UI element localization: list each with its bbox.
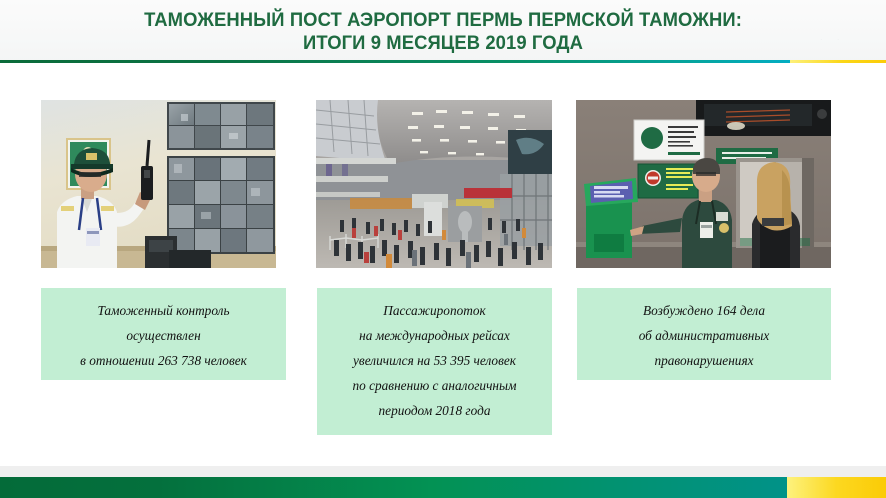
airport-terminal-illustration <box>316 100 552 268</box>
green-channel-kiosk-illustration <box>576 100 831 268</box>
passenger-flow-line-4: по сравнению с аналогичным <box>323 373 546 398</box>
footer-yellow-segment <box>787 477 886 498</box>
photo-row <box>0 100 886 268</box>
passenger-flow-line-2: на международных рейсах <box>323 323 546 348</box>
administrative-cases-line-2: об административных <box>583 323 825 348</box>
passenger-flow-line-1: Пассажиропоток <box>323 298 546 323</box>
customs-control-line-3: в отношении 263 738 человек <box>47 348 280 373</box>
photo-customs-officer-cctv <box>41 100 276 268</box>
presentation-slide: ТАМОЖЕННЫЙ ПОСТ АЭРОПОРТ ПЕРМЬ ПЕРМСКОЙ … <box>0 0 886 498</box>
photo-green-channel-kiosk <box>576 100 831 268</box>
header-divider <box>0 60 886 63</box>
footer-green-segment <box>0 477 787 498</box>
passenger-flow-line-5: периодом 2018 года <box>323 398 546 423</box>
title-line-2: ИТОГИ 9 МЕСЯЦЕВ 2019 ГОДА <box>27 33 860 54</box>
slide-header: ТАМОЖЕННЫЙ ПОСТ АЭРОПОРТ ПЕРМЬ ПЕРМСКОЙ … <box>0 0 886 62</box>
photo-airport-terminal-hall <box>316 100 552 268</box>
header-divider-yellow-segment <box>790 60 886 63</box>
administrative-cases-box: Возбуждено 164 дела об административных … <box>577 288 831 380</box>
customs-control-line-2: осуществлен <box>47 323 280 348</box>
header-divider-green-segment <box>0 60 790 63</box>
customs-officer-cctv-illustration <box>41 100 276 268</box>
faint-watermark: · · <box>820 35 860 47</box>
passenger-flow-line-3: увеличился на 53 395 человек <box>323 348 546 373</box>
passenger-flow-box: Пассажиропоток на международных рейсах у… <box>317 288 552 435</box>
administrative-cases-line-1: Возбуждено 164 дела <box>583 298 825 323</box>
footer-color-bar <box>0 477 886 498</box>
footer-gray-strip <box>0 466 886 477</box>
statistics-boxes: Таможенный контроль осуществлен в отноше… <box>0 288 886 438</box>
title-line-1: ТАМОЖЕННЫЙ ПОСТ АЭРОПОРТ ПЕРМЬ ПЕРМСКОЙ … <box>27 10 860 31</box>
page-title: ТАМОЖЕННЫЙ ПОСТ АЭРОПОРТ ПЕРМЬ ПЕРМСКОЙ … <box>0 10 886 54</box>
customs-control-box: Таможенный контроль осуществлен в отноше… <box>41 288 286 380</box>
administrative-cases-line-3: правонарушениях <box>583 348 825 373</box>
customs-control-line-1: Таможенный контроль <box>47 298 280 323</box>
